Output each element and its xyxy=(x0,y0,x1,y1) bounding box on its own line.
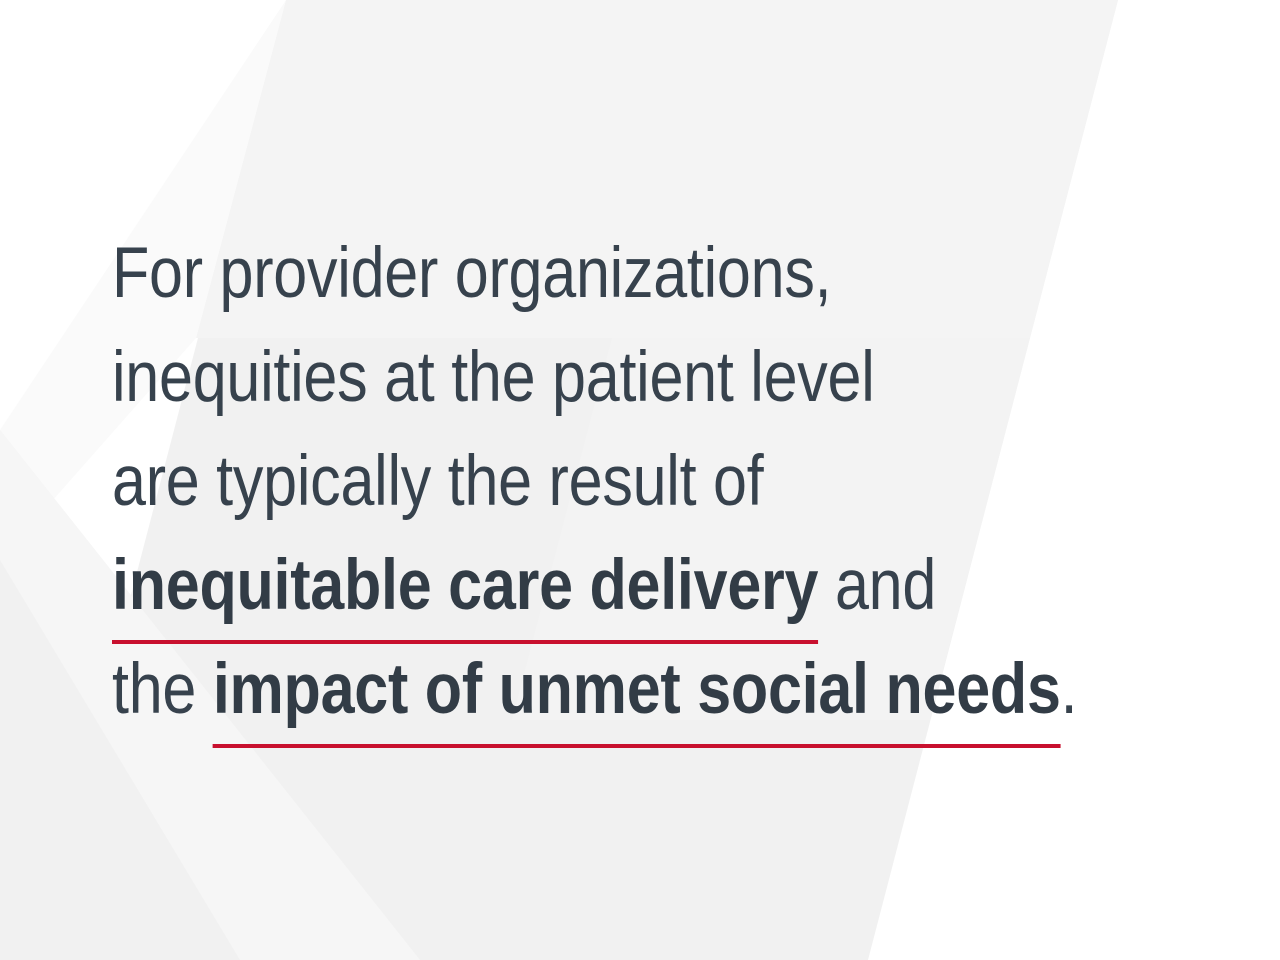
quote-block: For provider organizations, inequities a… xyxy=(112,222,1242,742)
quote-line-1: For provider organizations, xyxy=(112,222,1084,326)
quote-text-plain: and xyxy=(818,546,936,625)
quote-text-period: . xyxy=(1061,650,1078,729)
quote-text-plain: are typically the result of xyxy=(112,442,763,521)
slide-canvas: For provider organizations, inequities a… xyxy=(0,0,1280,960)
quote-emphasis-underlined: impact of unmet social needs xyxy=(213,638,1061,742)
quote-emphasis-underlined: inequitable care delivery xyxy=(112,534,818,638)
quote-line-4: inequitable care delivery and xyxy=(112,534,1084,638)
background-shape-upper-right-white xyxy=(1118,0,1280,160)
quote-line-5: the impact of unmet social needs. xyxy=(112,638,1084,742)
quote-line-3: are typically the result of xyxy=(112,430,1084,534)
quote-line-2: inequities at the patient level xyxy=(112,326,1084,430)
quote-text-plain: the xyxy=(112,650,213,729)
quote-text-plain: For provider organizations, xyxy=(112,234,831,313)
quote-text-plain: inequities at the patient level xyxy=(112,338,875,417)
